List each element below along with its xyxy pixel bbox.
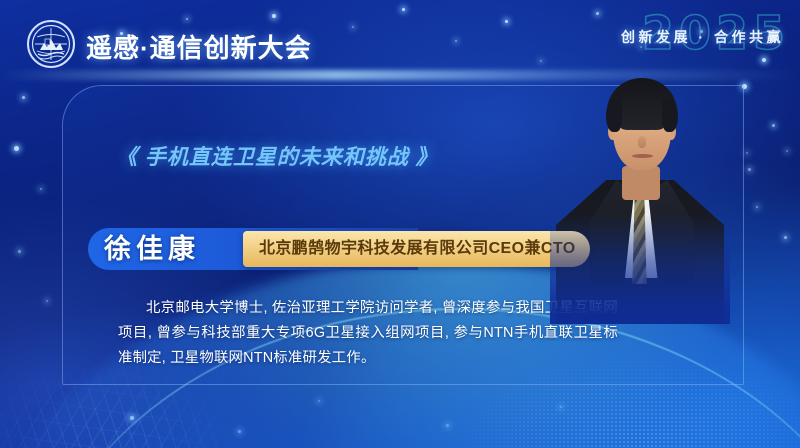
- conference-slogan: 创新发展 · 合作共赢: [621, 27, 784, 47]
- portrait-fade-overlay: [550, 62, 730, 324]
- speaker-biography: 北京邮电大学博士, 佐治亚理工学院访问学者, 曾深度参与我国卫星互联网项目, 曾…: [118, 296, 618, 371]
- conference-emblem-icon: [26, 19, 76, 69]
- speaker-portrait: [550, 62, 730, 324]
- speaker-organization-title: 北京鹏鹄物宇科技发展有限公司CEO兼CTO: [243, 231, 590, 267]
- presentation-slide: 遥感·通信创新大会 2025 创新发展 · 合作共赢 《 手机直连卫星的未来和挑…: [0, 0, 800, 448]
- speaker-name: 徐佳康: [104, 230, 200, 268]
- conference-title: 遥感·通信创新大会: [86, 28, 312, 65]
- lecture-title: 《 手机直连卫星的未来和挑战 》: [116, 141, 438, 171]
